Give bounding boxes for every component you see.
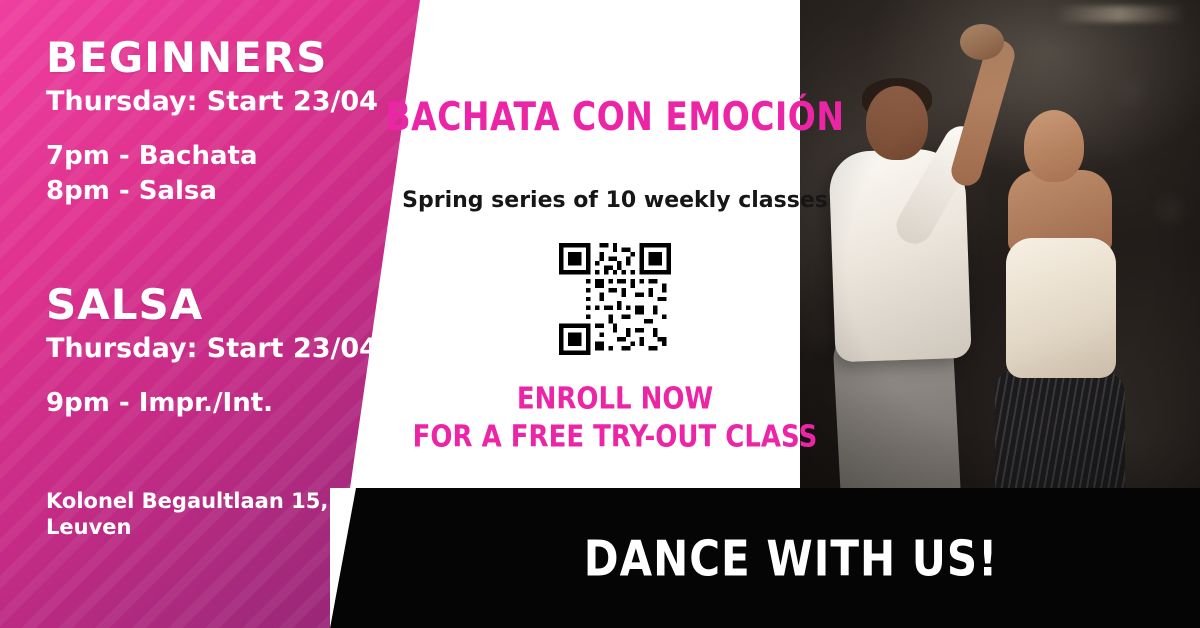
beginners-line-1: 7pm - Bachata (46, 139, 416, 174)
call-to-action[interactable]: ENROLL NOW FOR A FREE TRY-OUT CLASS (380, 381, 850, 458)
beginners-title: BEGINNERS (46, 36, 416, 80)
salsa-schedule: Thursday: Start 23/04 (46, 333, 416, 364)
cta-line-2: FOR A FREE TRY-OUT CLASS (380, 420, 850, 458)
qr-code[interactable] (559, 243, 671, 355)
qr-code-wrapper (380, 243, 850, 355)
brand-title: BACHATA CON EMOCIÓN (380, 96, 850, 139)
salsa-line-1: 9pm - Impr./Int. (46, 386, 416, 421)
schedule-block: BEGINNERS Thursday: Start 23/04 7pm - Ba… (46, 36, 416, 540)
tagline: Spring series of 10 weekly classes (380, 188, 850, 213)
salsa-title: SALSA (46, 283, 416, 327)
beginners-schedule: Thursday: Start 23/04 (46, 86, 416, 117)
cta-line-1: ENROLL NOW (380, 381, 850, 419)
salsa-block: SALSA Thursday: Start 23/04 9pm - Impr./… (46, 283, 416, 421)
beginners-line-2: 8pm - Salsa (46, 174, 416, 209)
bottom-bar (330, 488, 1200, 628)
poster-root: BEGINNERS Thursday: Start 23/04 7pm - Ba… (0, 0, 1200, 628)
block-separator (46, 209, 416, 283)
beginners-block: BEGINNERS Thursday: Start 23/04 7pm - Ba… (46, 36, 416, 209)
